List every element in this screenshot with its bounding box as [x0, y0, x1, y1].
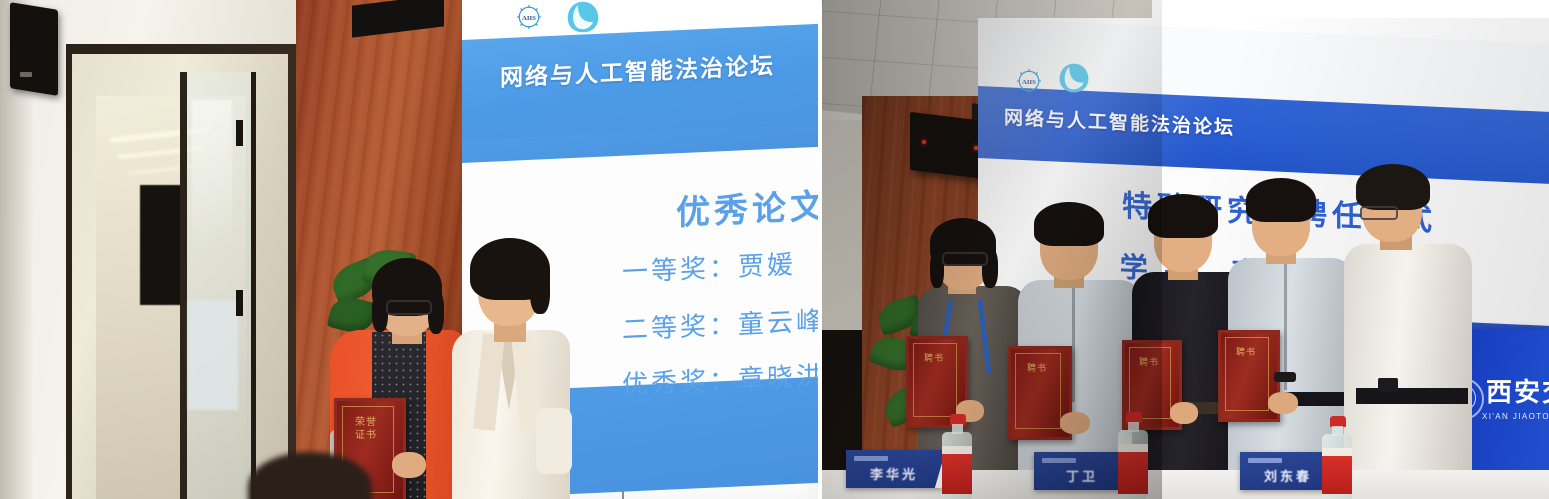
award-heading: 优秀论文	[676, 179, 818, 235]
aiis-logo-icon: AIIS	[514, 2, 544, 32]
door-hinge	[236, 290, 243, 316]
hair	[1246, 178, 1316, 222]
glass-highlight	[192, 100, 232, 250]
door-hinge	[236, 120, 243, 146]
hair-side	[530, 266, 550, 314]
hair	[1356, 164, 1430, 210]
bottle-label	[1322, 456, 1352, 494]
xjtu-name-cn: 西安交	[1486, 372, 1549, 409]
xjtu-name-en: XI'AN JIAOTONG	[1482, 412, 1549, 421]
white-dress-shirt	[1344, 244, 1472, 499]
wristwatch	[1274, 372, 1296, 382]
frosted-glass-panel	[188, 300, 238, 410]
far-dark-door	[140, 185, 184, 305]
certificate-label: 荣誉证书	[352, 416, 380, 442]
award-row-first: 一等奖：贾媛	[622, 244, 796, 289]
certificate-label: 聘书	[1232, 346, 1260, 358]
trousers-top	[1356, 388, 1468, 404]
eyeglasses-icon	[386, 300, 432, 315]
left-side-vignette	[822, 0, 1162, 499]
nameplate-logo	[1248, 458, 1282, 463]
sleeve	[536, 408, 572, 474]
ceiling-speaker-icon	[10, 2, 58, 96]
bottle-label-white	[1322, 448, 1352, 456]
award-ceremony-photo: AIIS 网络与人工智能法治论坛 优秀论文 一等奖：贾媛 二等奖：童云峰 优秀奖…	[0, 0, 818, 499]
appointment-ceremony-photo: AIIS 网络与人工智能法治论坛 特聘研究员聘任仪式 明 学尧 李丽敏 京春 西…	[822, 0, 1549, 499]
crescent-logo-icon	[566, 0, 600, 34]
eyeglasses-icon	[1360, 206, 1398, 220]
belt-buckle	[1378, 378, 1398, 392]
hand	[1268, 392, 1298, 414]
shirt-placket	[1284, 260, 1287, 390]
hand	[1170, 402, 1198, 424]
svg-text:AIIS: AIIS	[522, 15, 536, 22]
hand	[392, 452, 426, 478]
dual-photo-composite: AIIS 网络与人工智能法治论坛 优秀论文 一等奖：贾媛 二等奖：童云峰 优秀奖…	[0, 0, 1549, 499]
speaker-badge	[20, 72, 32, 77]
